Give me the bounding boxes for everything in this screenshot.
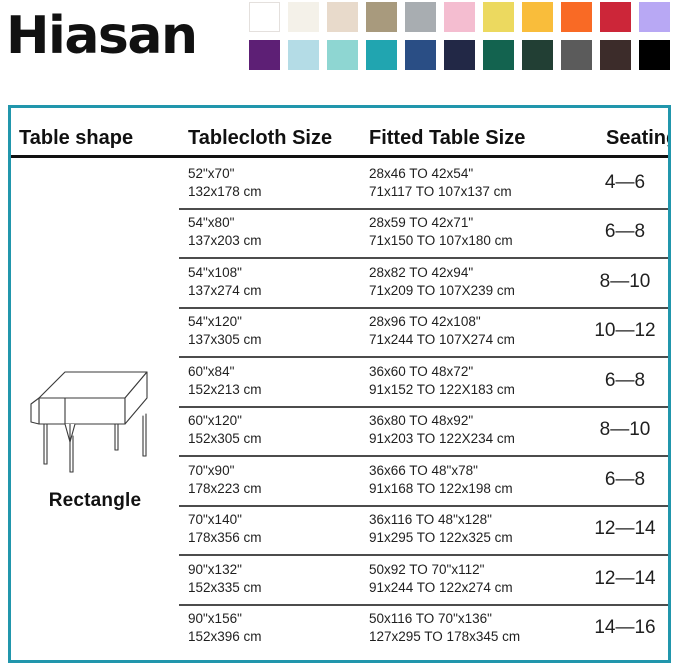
fitted-size-inches: 28x46 TO 42x54" [369,165,582,183]
brand-header: Hiasan [0,0,679,92]
cell-seating: 12—14 [582,554,668,604]
cell-seating: 10—12 [582,307,668,357]
color-swatch-lavender[interactable] [639,2,670,32]
cell-tablecloth-size: 70"x140"178x356 cm [179,505,364,555]
fitted-size-cm: 91x152 TO 122X183 cm [369,381,582,399]
color-swatch-row-1 [249,2,679,32]
color-swatch-aqua[interactable] [327,40,358,70]
color-swatch-teal[interactable] [366,40,397,70]
cell-fitted-table-size: 28x46 TO 42x54"71x117 TO 107x137 cm [364,158,582,208]
fitted-size-inches: 28x59 TO 42x71" [369,214,582,232]
tablecloth-size-cm: 152x213 cm [188,381,364,399]
cell-seating: 14—16 [582,604,668,654]
cell-fitted-table-size: 28x82 TO 42x94"71x209 TO 107X239 cm [364,257,582,307]
column-header-table-shape: Table shape [11,127,179,155]
table-row: 52"x70"132x178 cm28x46 TO 42x54"71x117 T… [11,158,668,208]
tablecloth-size-cm: 132x178 cm [188,183,364,201]
table-shape-spacer [11,307,179,357]
table-row: 90"x132"152x335 cm50x92 TO 70"x112"91x24… [11,554,668,604]
brand-logo: Hiasan [6,8,197,64]
table-shape-spacer [11,455,179,505]
tablecloth-size-inches: 90"x156" [188,610,364,628]
table-row: 60"x84"152x213 cm36x60 TO 48x72"91x152 T… [11,356,668,406]
cell-fitted-table-size: 28x59 TO 42x71"71x150 TO 107x180 cm [364,208,582,258]
color-swatch-dark-brown[interactable] [600,40,631,70]
tablecloth-size-inches: 70"x90" [188,462,364,480]
color-swatch-purple[interactable] [249,40,280,70]
cell-seating: 6—8 [582,455,668,505]
table-row: 60"x120"152x305 cm36x80 TO 48x92"91x203 … [11,406,668,456]
fitted-size-cm: 71x117 TO 107x137 cm [369,183,582,201]
table-shape-spacer [11,604,179,654]
column-header-fitted-size: Fitted Table Size [364,127,582,155]
table-row: 70"x90"178x223 cm36x66 TO 48"x78"91x168 … [11,455,668,505]
cell-fitted-table-size: 36x66 TO 48"x78"91x168 TO 122x198 cm [364,455,582,505]
table-row: 54"x80"137x203 cm28x59 TO 42x71"71x150 T… [11,208,668,258]
color-swatch-red[interactable] [600,2,631,32]
fitted-size-inches: 36x116 TO 48"x128" [369,511,582,529]
fitted-size-inches: 36x66 TO 48"x78" [369,462,582,480]
table-shape-spacer [11,208,179,258]
color-swatch-pink[interactable] [444,2,475,32]
table-shape-spacer [11,257,179,307]
tablecloth-size-inches: 60"x120" [188,412,364,430]
cell-seating: 8—10 [582,406,668,456]
color-swatch-gray[interactable] [405,2,436,32]
fitted-size-inches: 50x92 TO 70"x112" [369,561,582,579]
cell-tablecloth-size: 90"x156"152x396 cm [179,604,364,654]
size-chart-table: Table shape Tablecloth Size Fitted Table… [11,108,668,660]
cell-fitted-table-size: 36x80 TO 48x92"91x203 TO 122X234 cm [364,406,582,456]
fitted-size-cm: 91x203 TO 122X234 cm [369,430,582,448]
cell-fitted-table-size: 36x60 TO 48x72"91x152 TO 122X183 cm [364,356,582,406]
fitted-size-inches: 28x82 TO 42x94" [369,264,582,282]
tablecloth-size-inches: 90"x132" [188,561,364,579]
cell-fitted-table-size: 50x92 TO 70"x112"91x244 TO 122x274 cm [364,554,582,604]
tablecloth-size-inches: 70"x140" [188,511,364,529]
fitted-size-cm: 71x150 TO 107x180 cm [369,232,582,250]
cell-tablecloth-size: 90"x132"152x335 cm [179,554,364,604]
fitted-size-cm: 71x244 TO 107X274 cm [369,331,582,349]
tablecloth-size-cm: 137x274 cm [188,282,364,300]
cell-tablecloth-size: 52"x70"132x178 cm [179,158,364,208]
cell-seating: 4—6 [582,158,668,208]
cell-tablecloth-size: 70"x90"178x223 cm [179,455,364,505]
fitted-size-cm: 91x244 TO 122x274 cm [369,579,582,597]
column-header-tablecloth-size: Tablecloth Size [179,127,364,155]
cell-fitted-table-size: 36x116 TO 48"x128"91x295 TO 122x325 cm [364,505,582,555]
color-swatch-light-blue[interactable] [288,40,319,70]
color-swatch-beige[interactable] [327,2,358,32]
fitted-size-cm: 127x295 TO 178x345 cm [369,628,582,646]
fitted-size-cm: 71x209 TO 107X239 cm [369,282,582,300]
tablecloth-size-cm: 152x305 cm [188,430,364,448]
color-swatch-ivory[interactable] [288,2,319,32]
color-swatch-denim-blue[interactable] [405,40,436,70]
cell-tablecloth-size: 60"x120"152x305 cm [179,406,364,456]
color-swatch-navy[interactable] [444,40,475,70]
cell-fitted-table-size: 28x96 TO 42x108"71x244 TO 107X274 cm [364,307,582,357]
color-swatch-charcoal-gray[interactable] [561,40,592,70]
table-body: Rectangle 52"x70"132x178 cm28x46 TO 42x5… [11,158,668,653]
color-swatch-orange[interactable] [561,2,592,32]
table-shape-spacer [11,356,179,406]
table-row: 90"x156"152x396 cm50x116 TO 70"x136"127x… [11,604,668,654]
tablecloth-size-inches: 54"x108" [188,264,364,282]
color-swatch-row-2 [249,40,679,70]
color-swatch-forest-green[interactable] [522,40,553,70]
tablecloth-size-inches: 60"x84" [188,363,364,381]
tablecloth-size-inches: 54"x120" [188,313,364,331]
table-shape-spacer [11,406,179,456]
tablecloth-size-cm: 137x203 cm [188,232,364,250]
tablecloth-size-inches: 54"x80" [188,214,364,232]
fitted-size-inches: 36x80 TO 48x92" [369,412,582,430]
color-swatch-grid [249,2,679,78]
fitted-size-inches: 36x60 TO 48x72" [369,363,582,381]
fitted-size-cm: 91x295 TO 122x325 cm [369,529,582,547]
tablecloth-size-cm: 178x223 cm [188,480,364,498]
cell-seating: 6—8 [582,356,668,406]
table-row: 54"x108"137x274 cm28x82 TO 42x94"71x209 … [11,257,668,307]
tablecloth-size-cm: 152x396 cm [188,628,364,646]
table-shape-spacer [11,505,179,555]
cell-fitted-table-size: 50x116 TO 70"x136"127x295 TO 178x345 cm [364,604,582,654]
cell-tablecloth-size: 60"x84"152x213 cm [179,356,364,406]
table-shape-spacer [11,554,179,604]
fitted-size-cm: 91x168 TO 122x198 cm [369,480,582,498]
column-header-seating: Seating [582,127,668,155]
color-swatch-black[interactable] [639,40,670,70]
color-swatch-taupe[interactable] [366,2,397,32]
table-header-row: Table shape Tablecloth Size Fitted Table… [11,108,668,155]
color-swatch-white[interactable] [249,2,280,32]
cell-tablecloth-size: 54"x80"137x203 cm [179,208,364,258]
cell-seating: 12—14 [582,505,668,555]
cell-seating: 6—8 [582,208,668,258]
fitted-size-inches: 28x96 TO 42x108" [369,313,582,331]
cell-tablecloth-size: 54"x120"137x305 cm [179,307,364,357]
tablecloth-size-cm: 178x356 cm [188,529,364,547]
color-swatch-yellow[interactable] [483,2,514,32]
table-shape-spacer [11,158,179,208]
table-row: 70"x140"178x356 cm36x116 TO 48"x128"91x2… [11,505,668,555]
cell-seating: 8—10 [582,257,668,307]
size-chart-card: Table shape Tablecloth Size Fitted Table… [8,105,671,663]
tablecloth-size-cm: 137x305 cm [188,331,364,349]
tablecloth-size-inches: 52"x70" [188,165,364,183]
fitted-size-inches: 50x116 TO 70"x136" [369,610,582,628]
color-swatch-emerald-green[interactable] [483,40,514,70]
tablecloth-size-cm: 152x335 cm [188,579,364,597]
color-swatch-golden-yellow[interactable] [522,2,553,32]
table-row: 54"x120"137x305 cm28x96 TO 42x108"71x244… [11,307,668,357]
cell-tablecloth-size: 54"x108"137x274 cm [179,257,364,307]
